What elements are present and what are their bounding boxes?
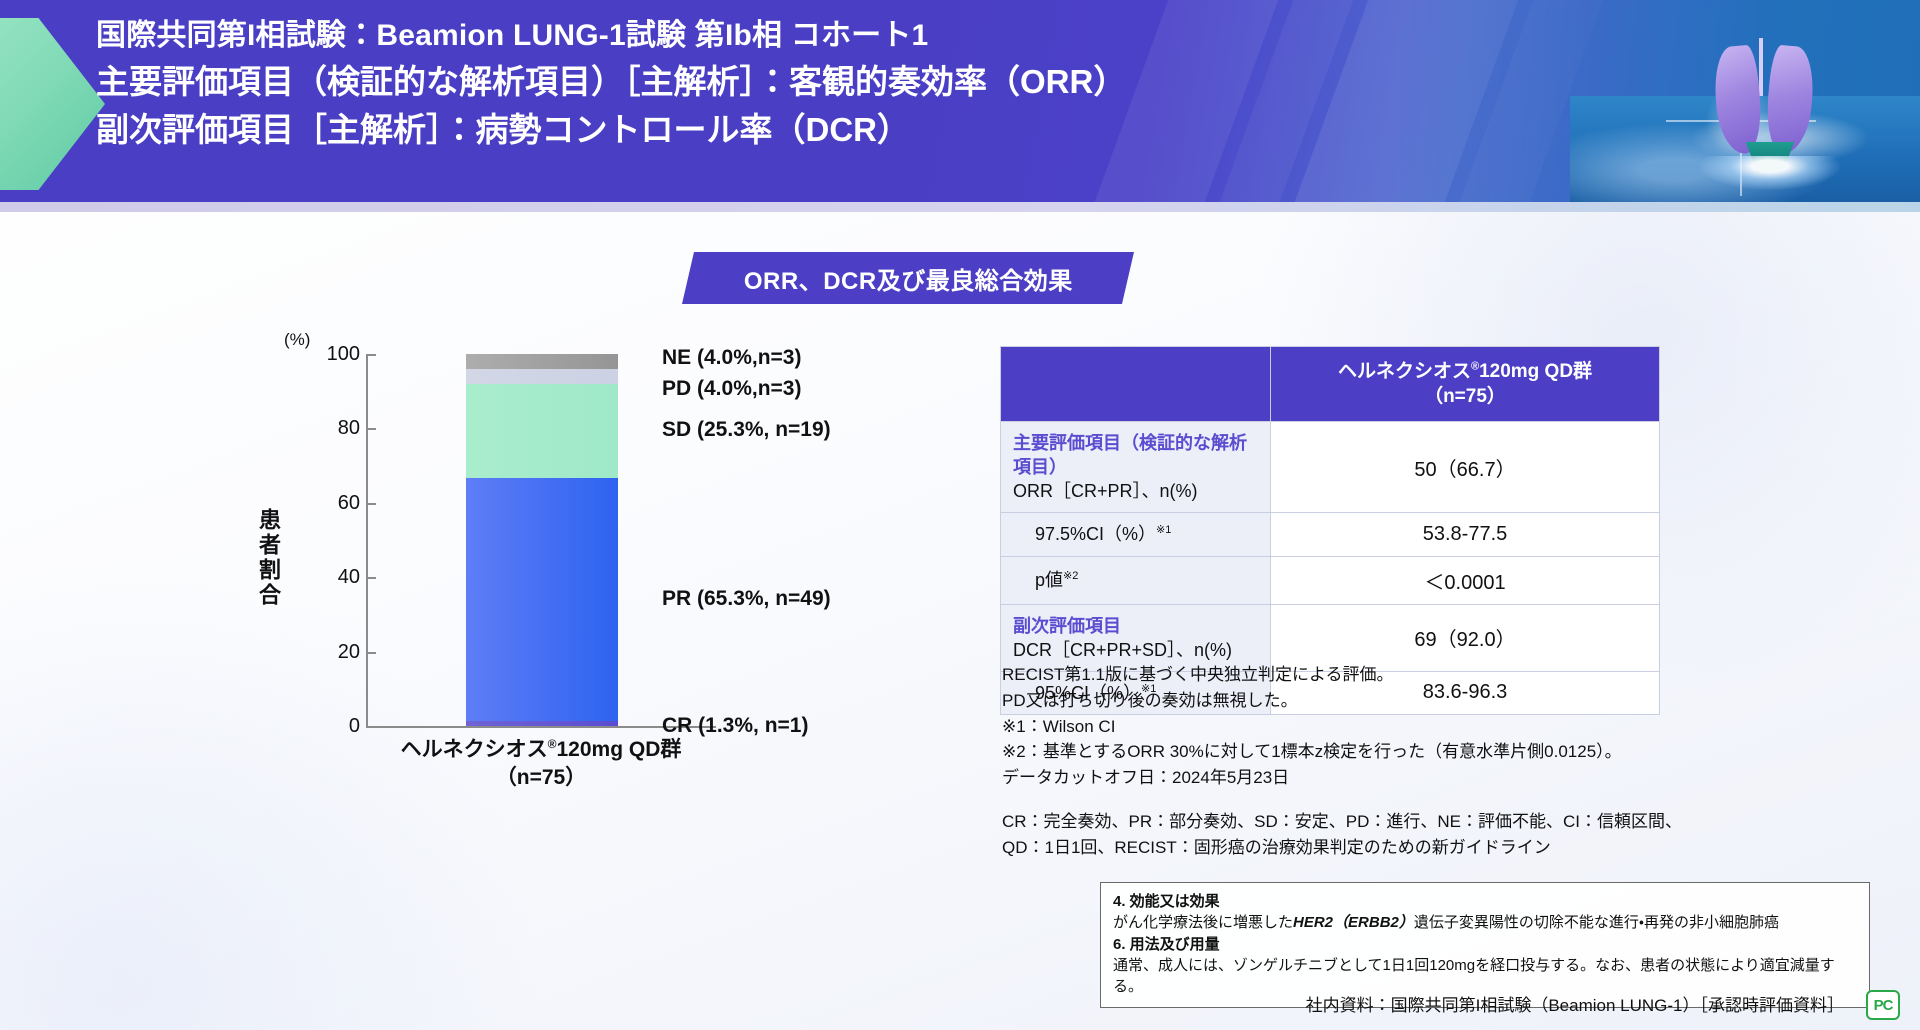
dosage-heading: 6. 用法及び用量 [1113,934,1857,955]
y-tick-label: 0 [300,715,360,738]
y-tick-label: 80 [300,417,360,440]
segment-label-pr: PR (65.3%, n=49) [662,587,831,611]
y-tick [366,726,376,728]
footnote-line-4: ※2：基準とするORR 30%に対して1標本z検定を行った（有意水準片側0.01… [1002,739,1722,765]
table-row: 主要評価項目（検証的な解析項目）ORR［CR+PR］、n(%)50（66.7） [1001,422,1660,513]
table-row-value: 53.8-77.5 [1271,513,1660,556]
table-row-label: 主要評価項目（検証的な解析項目）ORR［CR+PR］、n(%) [1001,422,1271,513]
abbreviation-line-1: CR：完全奏効、PR：部分奏効、SD：安定、PD：進行、NE：評価不能、CI：信… [1002,809,1722,835]
header-line-2: 主要評価項目（検証的な解析項目）［主解析］：客観的奏効率（ORR） [96,58,1276,106]
bar-segment-cr [466,721,618,726]
table-row-value: 50（66.7） [1271,422,1660,513]
table-header-row: ヘルネクシオス®120mg QD群（n=75） [1001,347,1660,422]
table-row: 97.5%CI（%）※153.8-77.5 [1001,513,1660,556]
y-axis-line [366,354,368,726]
segment-label-pd: PD (4.0%,n=3) [662,377,801,401]
segment-label-cr: CR (1.3%, n=1) [662,714,808,738]
results-table: ヘルネクシオス®120mg QD群（n=75） 主要評価項目（検証的な解析項目）… [1000,346,1660,715]
table-row: p値※2＜0.0001 [1001,556,1660,604]
stacked-bar-chart: (%) 患者割合 020406080100 CR (1.3%, n=1)PR (… [270,330,970,830]
header-text-block: 国際共同第I相試験：Beamion LUNG-1試験 第Ib相 コホート1 主要… [96,14,1276,154]
table-group-header: ヘルネクシオス®120mg QD群（n=75） [1271,347,1660,422]
bar-segment-ne [466,354,618,369]
footnote-line-2: PD又は打ち切り後の奏効は無視した。 [1002,688,1722,714]
y-tick [366,577,376,579]
slide-header: 国際共同第I相試験：Beamion LUNG-1試験 第Ib相 コホート1 主要… [0,0,1920,202]
table-row-label: 97.5%CI（%）※1 [1001,513,1271,556]
table-head: ヘルネクシオス®120mg QD群（n=75） [1001,347,1660,422]
y-tick [366,652,376,654]
y-tick [366,503,376,505]
table-row-value: ＜0.0001 [1271,556,1660,604]
source-citation: 社内資料：国際共同第I相試験（Beamion LUNG-1）［承認時評価資料］ [1306,991,1844,1016]
y-tick-label: 40 [300,566,360,589]
chart-title-text: ORR、DCR及び最良総合効果 [744,261,1073,296]
footnote-line-5: データカットオフ日：2024年5月23日 [1002,765,1722,791]
slide: 国際共同第I相試験：Beamion LUNG-1試験 第Ib相 コホート1 主要… [0,0,1920,1030]
lung-right-icon [1763,44,1816,155]
segment-label-ne: NE (4.0%,n=3) [662,346,801,370]
footnote-line-1: RECIST第1.1版に基づく中央独立判定による評価。 [1002,662,1722,688]
x-axis-label: ヘルネクシオス®120mg QD群（n=75） [366,736,716,791]
chart-title-ribbon: ORR、DCR及び最良総合効果 [682,252,1134,304]
trachea-icon [1759,38,1763,96]
header-line-1: 国際共同第I相試験：Beamion LUNG-1試験 第Ib相 コホート1 [96,14,1276,58]
header-underline [0,202,1920,212]
footnotes-block: RECIST第1.1版に基づく中央独立判定による評価。 PD又は打ち切り後の奏効… [1002,662,1722,861]
y-tick [366,354,376,356]
bar-segment-pd [466,369,618,384]
y-tick [366,428,376,430]
green-arrow-decoration [0,18,105,190]
indication-body: がん化学療法後に増悪したHER2（ERBB2）遺伝子変異陽性の切除不能な進行・再… [1113,912,1857,933]
footnote-spacer [1002,791,1722,809]
lungs-illustration-icon [1694,38,1844,188]
bar-column [466,354,618,726]
pc-badge-icon: PC [1866,990,1900,1020]
bar-segment-pr [466,478,618,721]
y-tick-label: 100 [300,343,360,366]
indication-dosage-box: 4. 効能又は効果 がん化学療法後に増悪したHER2（ERBB2）遺伝子変異陽性… [1100,882,1870,1008]
segment-label-sd: SD (25.3%, n=19) [662,418,831,442]
table-corner-cell [1001,347,1271,422]
y-tick-label: 20 [300,641,360,664]
y-axis-title: 患者割合 [252,508,284,608]
bar-segment-sd [466,384,618,478]
y-tick-label: 60 [300,492,360,515]
indication-heading: 4. 効能又は効果 [1113,891,1857,912]
water-splash-icon [1700,156,1840,190]
header-line-3: 副次評価項目［主解析］：病勢コントロール率（DCR） [96,106,1276,154]
table-row-label: p値※2 [1001,556,1271,604]
abbreviation-line-2: QD：1日1回、RECIST：固形癌の治療効果判定のための新ガイドライン [1002,835,1722,861]
footnote-line-3: ※1：Wilson CI [1002,714,1722,740]
